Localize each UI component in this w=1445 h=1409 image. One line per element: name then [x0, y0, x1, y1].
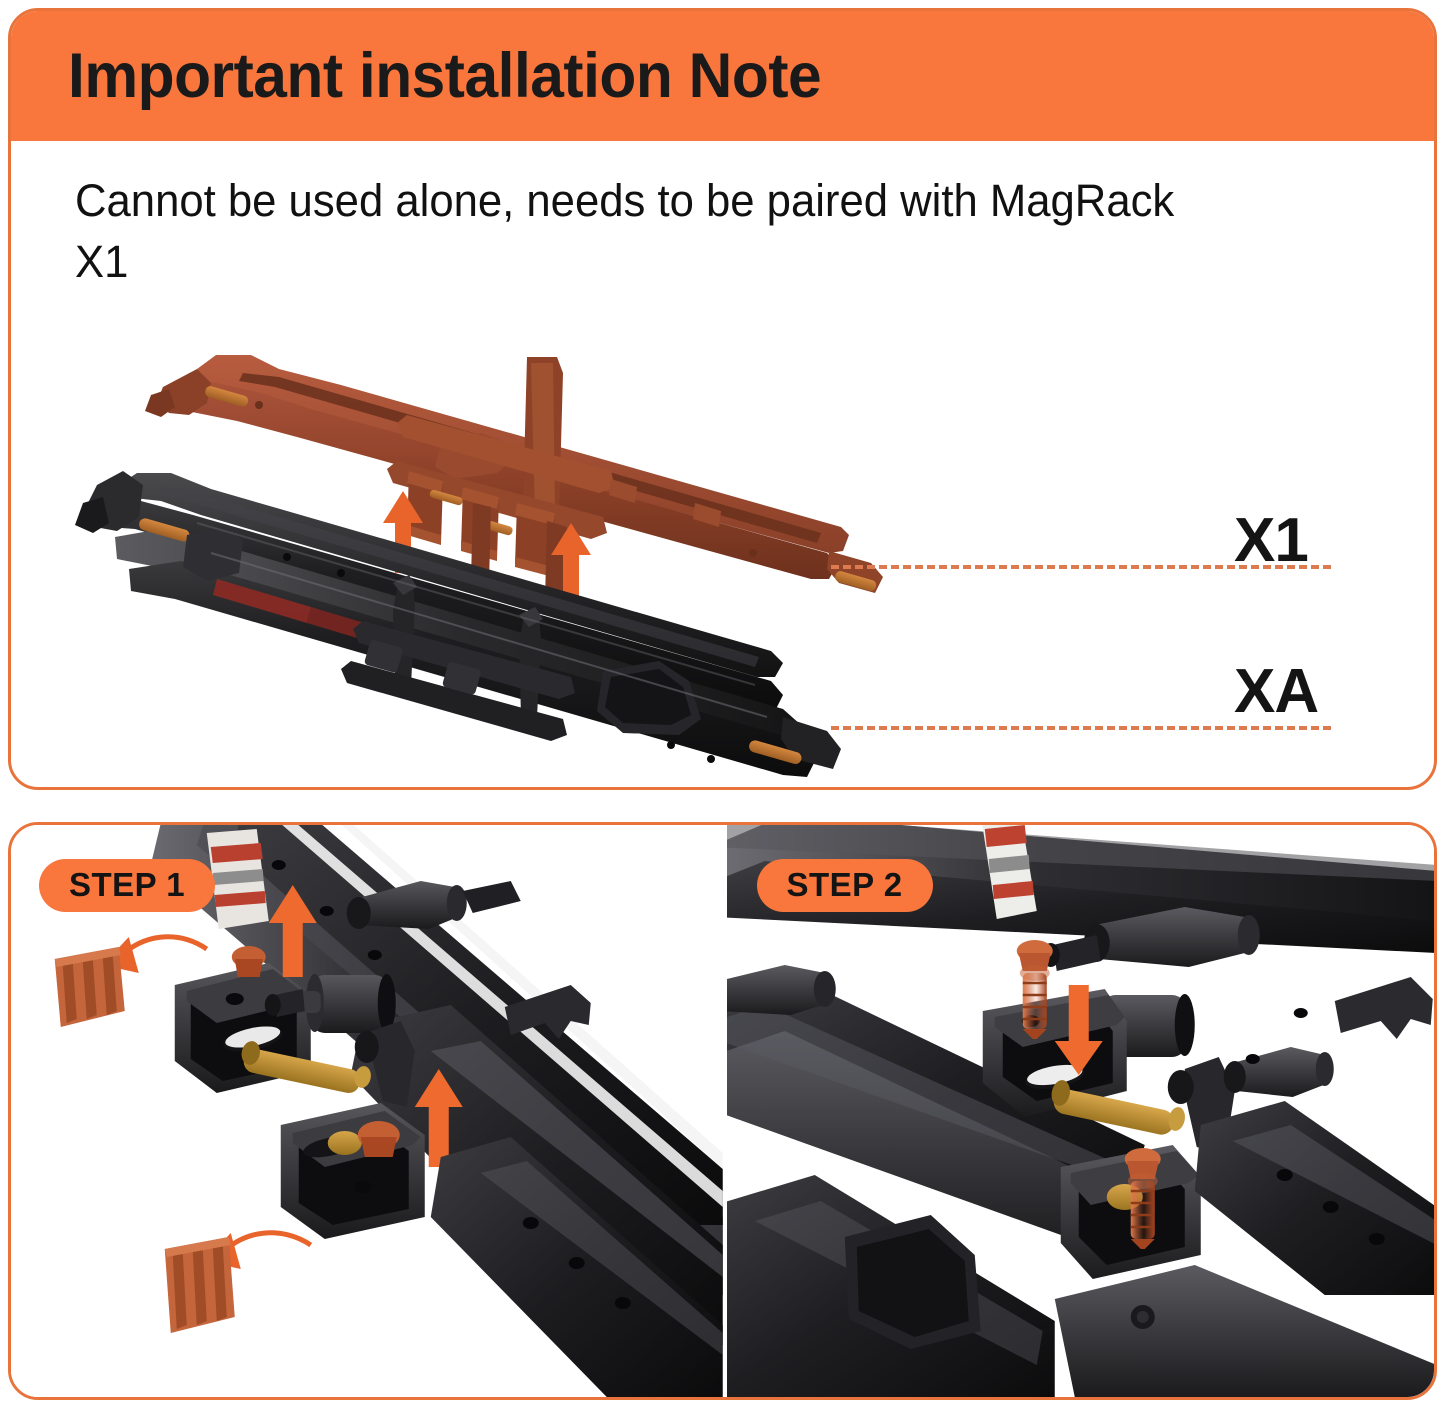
step-2-panel: STEP 2	[723, 825, 1435, 1397]
note-description: Cannot be used alone, needs to be paired…	[75, 171, 1220, 293]
page-title: Important installation Note	[68, 40, 821, 112]
part-label-xa: XA	[1234, 656, 1318, 727]
rack-assembly-svg	[11, 321, 1437, 781]
part-label-x1: X1	[1234, 505, 1308, 576]
product-instruction-page: Important installation Note Cannot be us…	[0, 0, 1445, 1409]
note-header-bar: Important installation Note	[10, 10, 1435, 141]
product-exploded-illustration	[11, 321, 1437, 781]
step-1-panel: STEP 1	[11, 825, 723, 1397]
note-body: Cannot be used alone, needs to be paired…	[75, 171, 1255, 293]
step-1-badge: STEP 1	[39, 859, 215, 912]
removed-plug-lower	[165, 1237, 235, 1333]
lower-bracket	[281, 1103, 425, 1239]
installation-steps-card: STEP 1	[8, 822, 1437, 1400]
step-2-badge: STEP 2	[757, 859, 933, 912]
installation-note-card: Important installation Note Cannot be us…	[8, 8, 1437, 790]
orange-pin-installed-lower	[358, 1121, 400, 1157]
